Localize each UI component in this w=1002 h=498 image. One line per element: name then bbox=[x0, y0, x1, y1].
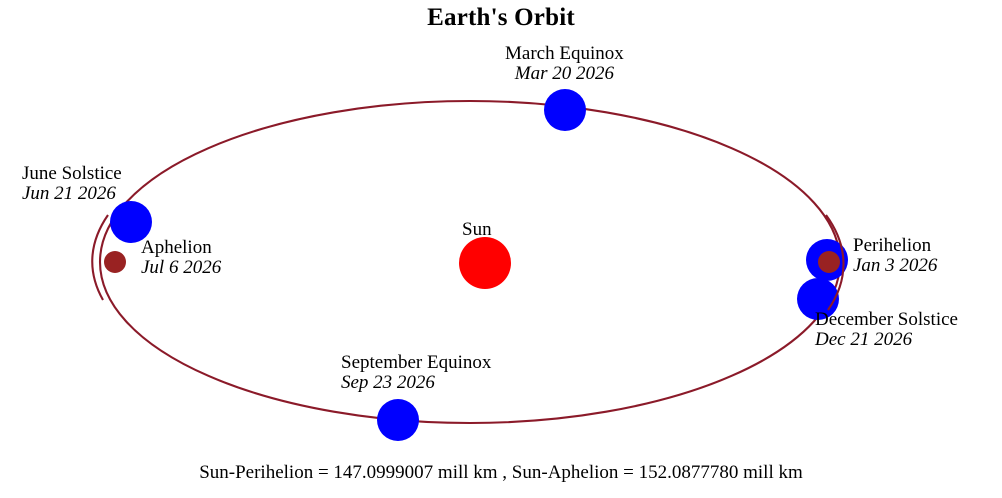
label-perihelion: Perihelion Jan 3 2026 bbox=[853, 236, 937, 276]
aphelion-marker bbox=[104, 251, 126, 273]
label-aphelion-date: Jul 6 2026 bbox=[141, 258, 221, 278]
label-march-equinox: March Equinox Mar 20 2026 bbox=[505, 44, 624, 84]
label-september-equinox: September Equinox Sep 23 2026 bbox=[341, 353, 491, 393]
label-december-solstice-name: December Solstice bbox=[815, 310, 958, 330]
label-june-solstice: June Solstice Jun 21 2026 bbox=[22, 164, 122, 204]
label-march-equinox-name: March Equinox bbox=[505, 44, 624, 64]
perihelion-marker bbox=[818, 251, 840, 273]
label-december-solstice-date: Dec 21 2026 bbox=[815, 330, 958, 350]
label-september-equinox-name: September Equinox bbox=[341, 353, 491, 373]
label-aphelion-name: Aphelion bbox=[141, 238, 221, 258]
earth-marker-september-equinox bbox=[377, 399, 419, 441]
label-sun-name: Sun bbox=[462, 220, 492, 240]
distance-caption: Sun-Perihelion = 147.0999007 mill km , S… bbox=[0, 462, 1002, 484]
label-june-solstice-date: Jun 21 2026 bbox=[22, 184, 122, 204]
earth-orbit-diagram: Earth's Orbit March Equinox Mar 20 2026 … bbox=[0, 0, 1002, 498]
label-june-solstice-name: June Solstice bbox=[22, 164, 122, 184]
label-december-solstice: December Solstice Dec 21 2026 bbox=[815, 310, 958, 350]
label-sun: Sun bbox=[462, 220, 492, 240]
label-perihelion-name: Perihelion bbox=[853, 236, 937, 256]
label-perihelion-date: Jan 3 2026 bbox=[853, 256, 937, 276]
label-aphelion: Aphelion Jul 6 2026 bbox=[141, 238, 221, 278]
label-september-equinox-date: Sep 23 2026 bbox=[341, 373, 491, 393]
earth-marker-march-equinox bbox=[544, 89, 586, 131]
sun-marker bbox=[459, 237, 511, 289]
label-march-equinox-date: Mar 20 2026 bbox=[505, 64, 624, 84]
